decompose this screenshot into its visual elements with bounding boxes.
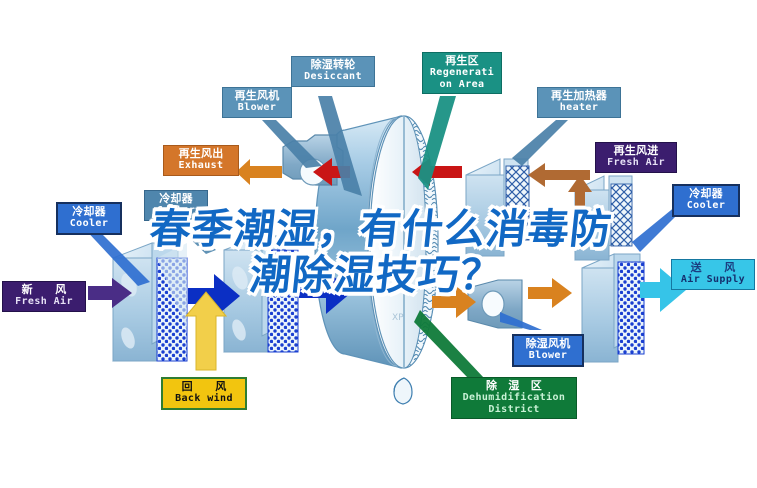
label-dehumidification-district[interactable]: 除 湿 区 Dehumidification District xyxy=(451,377,577,419)
label-desiccant-rotor[interactable]: 除湿转轮 Desiccant xyxy=(291,56,375,87)
label-cooler-right-cn: 冷却器 xyxy=(679,188,733,200)
cooler-unit-right xyxy=(582,254,644,362)
diagram-canvas: XP xyxy=(0,0,757,488)
label-cooler-left-en: Cooler xyxy=(63,218,115,229)
label-regeneration-blower-en: Blower xyxy=(228,102,286,113)
label-fresh-air-in-cn: 新 风 xyxy=(8,284,80,296)
label-air-supply[interactable]: 送 风 Air Supply xyxy=(671,259,755,290)
label-regeneration-area-en-1: Regenerati xyxy=(428,67,496,78)
label-regeneration-area-en-2: on Area xyxy=(428,79,496,90)
regeneration-heater-unit xyxy=(466,159,529,256)
label-exhaust-en: Exhaust xyxy=(169,160,233,171)
label-dehumidification-district-en-2: District xyxy=(457,404,571,415)
label-air-supply-cn: 送 风 xyxy=(677,262,749,274)
label-dehumidification-district-en-1: Dehumidification xyxy=(457,392,571,403)
label-dehumidification-district-cn: 除 湿 区 xyxy=(457,380,571,392)
label-regeneration-heater-en: heater xyxy=(543,102,615,113)
label-cooler-mid-cn: 冷却器 xyxy=(150,193,202,205)
label-regeneration-air-in-cn: 再生风进 xyxy=(601,145,671,157)
label-cooler-left[interactable]: 冷却器 Cooler xyxy=(56,202,122,235)
label-cooler-mid-en: Cooler xyxy=(150,205,202,216)
label-cooler-right-en: Cooler xyxy=(679,200,733,211)
label-air-supply-en: Air Supply xyxy=(677,274,749,285)
label-regeneration-area-cn: 再生区 xyxy=(428,55,496,67)
label-dehumidification-blower-cn: 除湿风机 xyxy=(519,338,577,350)
dehumidifier-schematic: XP xyxy=(0,0,757,488)
label-dehumidification-blower[interactable]: 除湿风机 Blower xyxy=(512,334,584,367)
label-regeneration-heater-cn: 再生加热器 xyxy=(543,90,615,102)
arrow-dry-air-2 xyxy=(528,278,572,308)
label-cooler-left-cn: 冷却器 xyxy=(63,206,115,218)
label-back-wind-en: Back wind xyxy=(168,393,240,404)
label-fresh-air-in-en: Fresh Air xyxy=(8,296,80,307)
label-regeneration-heater[interactable]: 再生加热器 heater xyxy=(537,87,621,118)
label-regeneration-blower-cn: 再生风机 xyxy=(228,90,286,102)
label-back-wind[interactable]: 回 风 Back wind xyxy=(161,377,247,410)
label-regeneration-air-in[interactable]: 再生风进 Fresh Air xyxy=(595,142,677,173)
label-regeneration-air-in-en: Fresh Air xyxy=(601,157,671,168)
label-cooler-right[interactable]: 冷却器 Cooler xyxy=(672,184,740,217)
label-exhaust-cn: 再生风出 xyxy=(169,148,233,160)
label-regeneration-blower[interactable]: 再生风机 Blower xyxy=(222,87,292,118)
label-desiccant-rotor-cn: 除湿转轮 xyxy=(297,59,369,71)
label-exhaust[interactable]: 再生风出 Exhaust xyxy=(163,145,239,176)
arrow-exhaust-out xyxy=(236,159,282,185)
label-back-wind-cn: 回 风 xyxy=(168,381,240,393)
label-regeneration-area[interactable]: 再生区 Regenerati on Area xyxy=(422,52,502,94)
label-cooler-mid[interactable]: 冷却器 Cooler xyxy=(144,190,208,221)
label-dehumidification-blower-en: Blower xyxy=(519,350,577,361)
svg-text:XP: XP xyxy=(392,313,404,323)
label-fresh-air-in[interactable]: 新 风 Fresh Air xyxy=(2,281,86,312)
label-desiccant-rotor-en: Desiccant xyxy=(297,71,369,82)
